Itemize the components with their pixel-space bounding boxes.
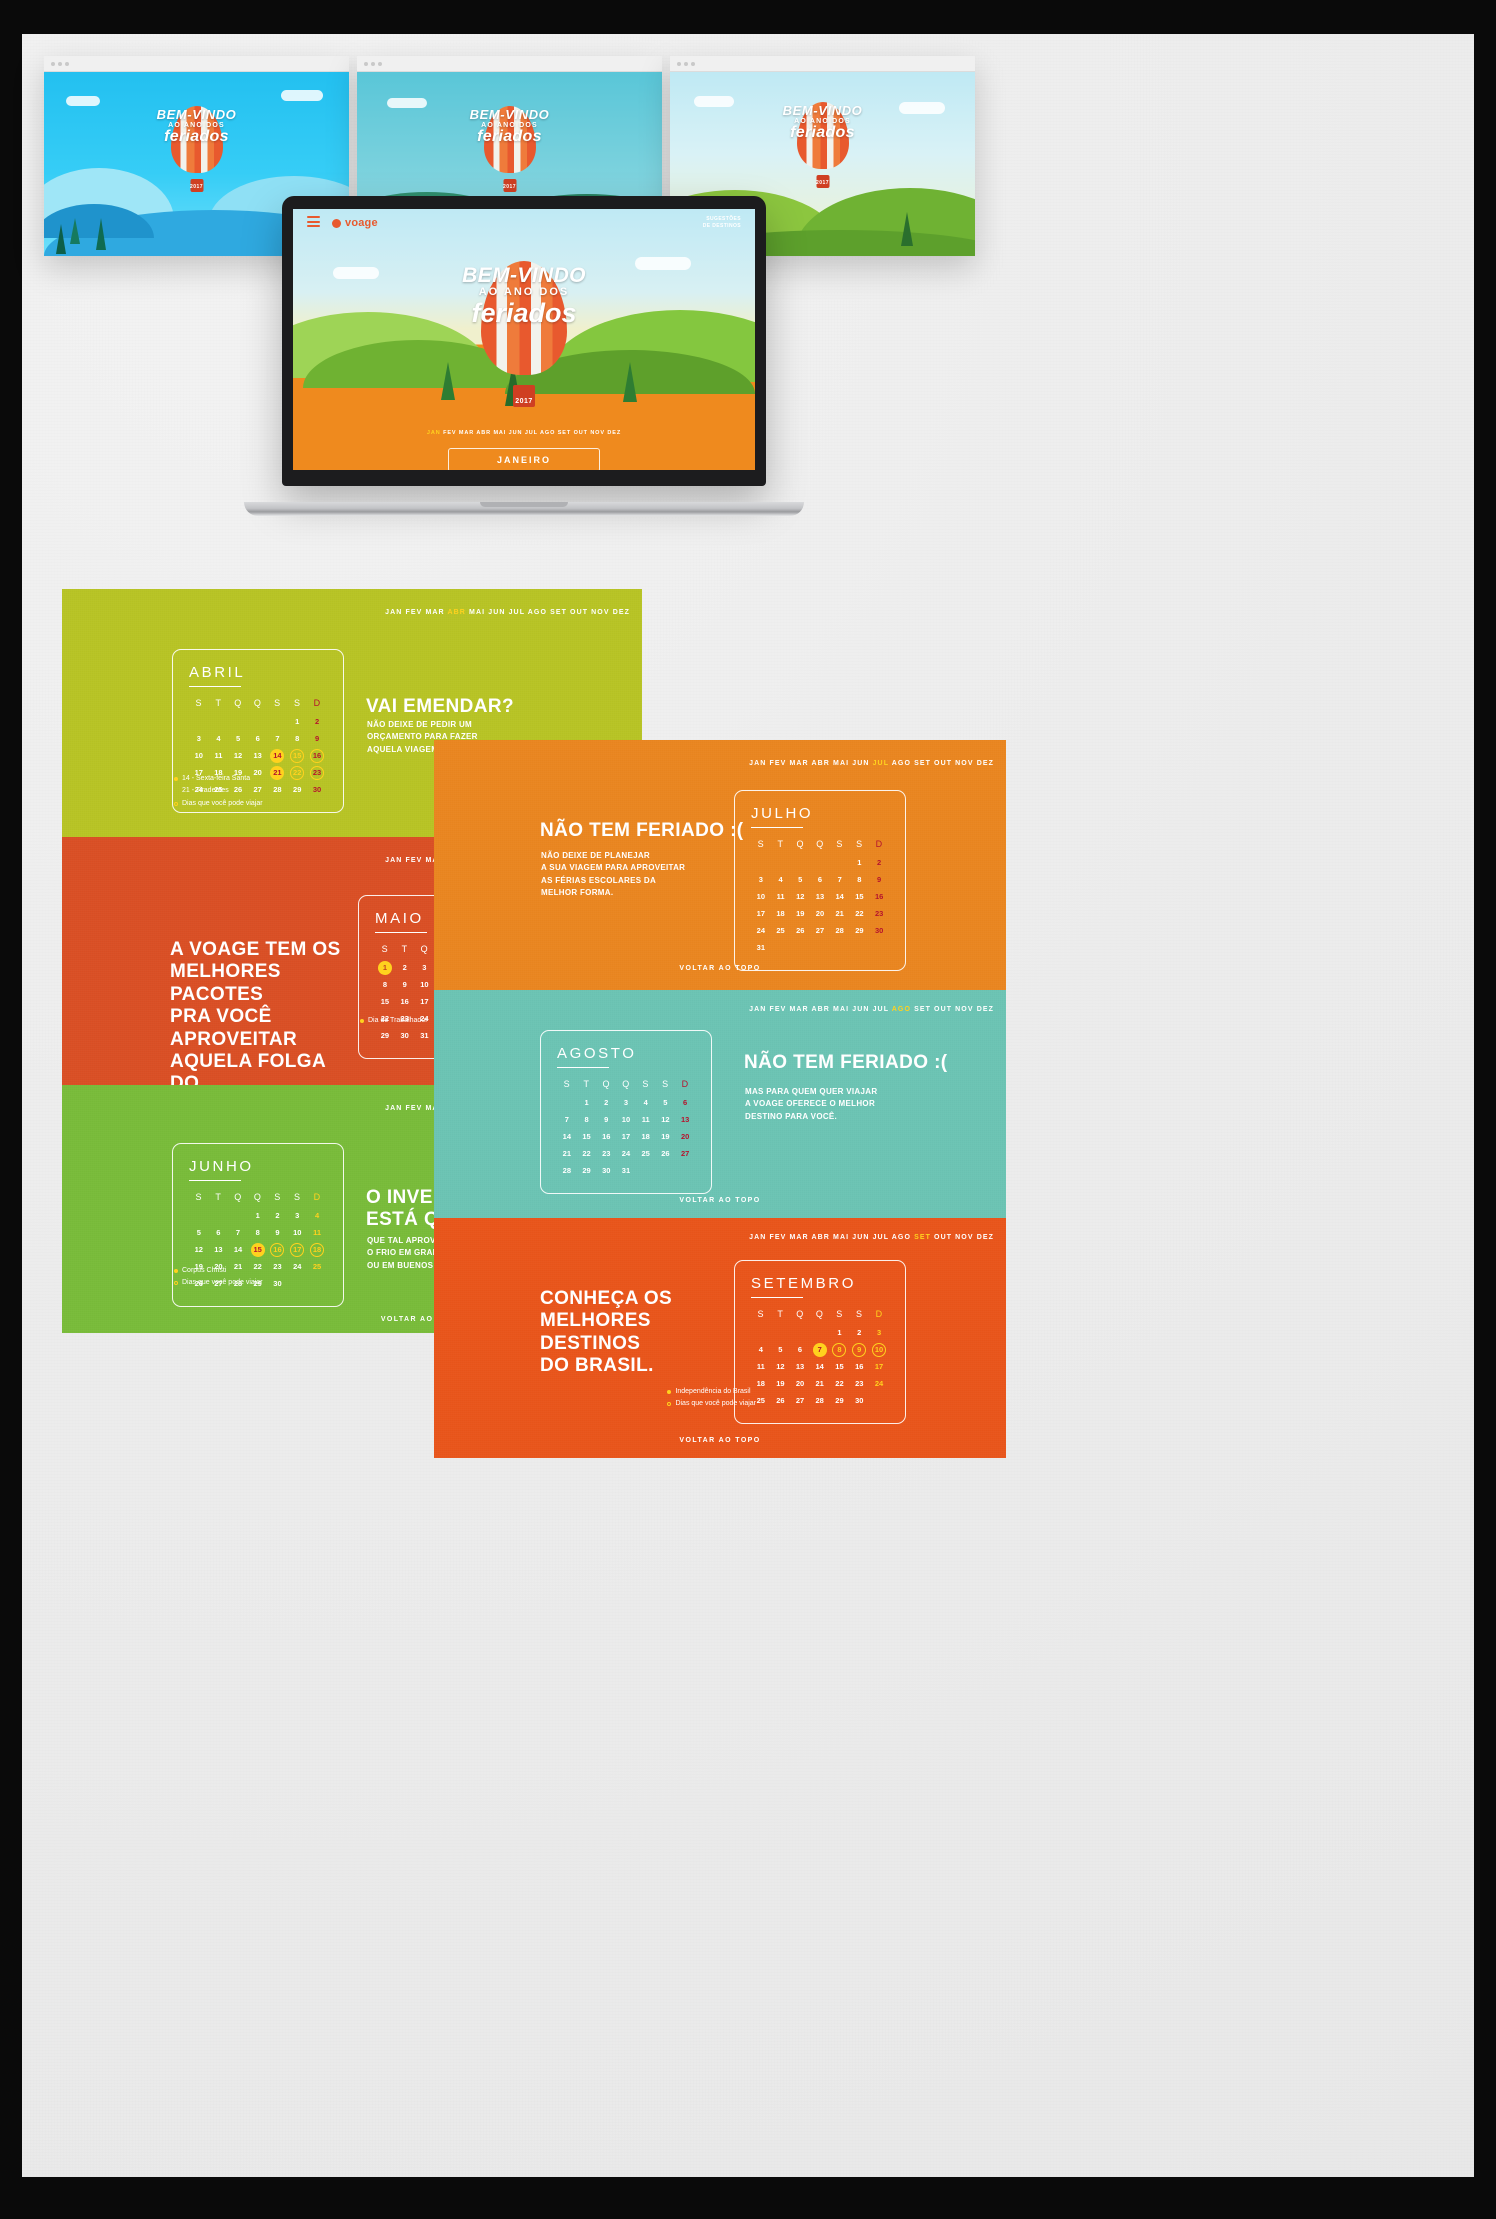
calendar-day[interactable]: 9 [307, 730, 327, 747]
month-link-nov[interactable]: NOV [955, 760, 973, 767]
calendar-day[interactable]: 24 [287, 1258, 307, 1275]
month-link-jun[interactable]: JUN [488, 609, 505, 616]
calendar-day[interactable]: 8 [375, 976, 395, 993]
calendar-day[interactable] [751, 1324, 771, 1341]
weekday-header: D [675, 1077, 695, 1094]
calendar-day[interactable] [268, 713, 288, 730]
calendar-day[interactable] [771, 854, 791, 871]
calendar-day[interactable]: 25 [307, 1258, 327, 1275]
calendar-day[interactable] [790, 939, 810, 956]
month-link-abr[interactable]: ABR [448, 609, 466, 616]
calendar-day[interactable]: 9 [869, 871, 889, 888]
calendar-day[interactable]: 28 [557, 1162, 577, 1179]
calendar-day[interactable]: 10 [189, 747, 209, 764]
calendar-day[interactable] [189, 713, 209, 730]
calendar-day[interactable]: 17 [751, 905, 771, 922]
calendar-day[interactable]: 28 [810, 1392, 830, 1409]
weekday-header: Q [415, 942, 435, 959]
calendar-day[interactable]: 17 [869, 1358, 889, 1375]
month-link-jan[interactable]: JAN [385, 1105, 402, 1112]
calendar-day[interactable]: 22 [830, 1375, 850, 1392]
calendar-day[interactable]: 12 [189, 1241, 209, 1258]
legend-label: 21 - Tiradentes [182, 785, 229, 797]
calendar-day[interactable]: 8 [577, 1111, 597, 1128]
month-link-mai[interactable]: MAI [833, 1234, 849, 1241]
calendar-day[interactable]: 4 [307, 1207, 327, 1224]
calendar-day[interactable]: 24 [616, 1145, 636, 1162]
calendar-day[interactable] [287, 1275, 307, 1292]
month-link-fev[interactable]: FEV [769, 1006, 786, 1013]
month-link-jan[interactable]: JAN [427, 430, 441, 436]
calendar-day[interactable]: 16 [869, 888, 889, 905]
calendar-day[interactable]: 25 [636, 1145, 656, 1162]
window-dot [51, 62, 55, 66]
calendar-day[interactable]: 8 [287, 730, 307, 747]
nav-suggestions[interactable]: SUGESTÕES DE DESTINOS [703, 216, 741, 231]
calendar-day[interactable] [869, 939, 889, 956]
month-link-dez[interactable]: DEZ [607, 430, 621, 436]
calendar-day[interactable]: 9 [395, 976, 415, 993]
calendar-day[interactable] [189, 1207, 209, 1224]
calendar-day[interactable]: 10 [616, 1111, 636, 1128]
calendar-day[interactable]: 25 [771, 922, 791, 939]
calendar-day[interactable]: 20 [790, 1375, 810, 1392]
month-link-fev[interactable]: FEV [769, 1234, 786, 1241]
calendar-day[interactable]: 20 [810, 905, 830, 922]
calendar-day[interactable] [209, 1207, 229, 1224]
calendar-day[interactable] [248, 713, 268, 730]
month-strip-hero[interactable]: JAN FEV MAR ABR MAI JUN JUL AGO SET OUT … [293, 430, 755, 436]
calendar-day[interactable]: 12 [228, 747, 248, 764]
month-link-mai[interactable]: MAI [469, 609, 485, 616]
calendar-day[interactable]: 28 [268, 781, 288, 798]
tree-icon [901, 212, 913, 246]
month-link-ago[interactable]: AGO [892, 760, 911, 767]
calendar-day[interactable]: 16 [268, 1241, 288, 1258]
calendar-day[interactable]: 29 [577, 1162, 597, 1179]
calendar-day[interactable] [557, 1094, 577, 1111]
calendar-day[interactable]: 23 [849, 1375, 869, 1392]
calendar-day[interactable]: 20 [675, 1128, 695, 1145]
calendar-day[interactable]: 3 [287, 1207, 307, 1224]
calendar-day[interactable]: 18 [307, 1241, 327, 1258]
calendar-day[interactable]: 21 [268, 764, 288, 781]
calendar-day[interactable]: 30 [307, 781, 327, 798]
month-link-jul[interactable]: JUL [873, 760, 889, 767]
calendar-day[interactable]: 13 [810, 888, 830, 905]
calendar-day[interactable]: 15 [830, 1358, 850, 1375]
panel-grain [434, 990, 1006, 1218]
frame-left [0, 0, 22, 2219]
calendar-day[interactable]: 8 [830, 1341, 850, 1358]
section-setembro: JAN FEV MAR ABR MAI JUN JUL AGO SET OUT … [434, 1218, 1006, 1458]
calendar-day[interactable]: 4 [209, 730, 229, 747]
calendar-day[interactable]: 8 [850, 871, 870, 888]
month-link-out[interactable]: OUT [570, 609, 588, 616]
travel-day[interactable]: 23 [310, 766, 324, 780]
travel-day[interactable]: 16 [310, 749, 324, 763]
month-link-fev[interactable]: FEV [405, 609, 422, 616]
calendar-day[interactable]: 27 [810, 922, 830, 939]
calendar-day[interactable]: 16 [596, 1128, 616, 1145]
calendar-day[interactable]: 30 [869, 922, 889, 939]
calendar-day[interactable]: 27 [675, 1145, 695, 1162]
calendar-day[interactable] [869, 1392, 889, 1409]
month-link-out[interactable]: OUT [934, 1006, 952, 1013]
calendar-day[interactable]: 10 [287, 1224, 307, 1241]
calendar-day[interactable]: 31 [415, 1027, 435, 1044]
calendar-day[interactable]: 13 [248, 747, 268, 764]
frame-top [0, 0, 1496, 34]
calendar-day[interactable]: 14 [268, 747, 288, 764]
calendar-day[interactable] [307, 1275, 327, 1292]
month-link-set[interactable]: SET [914, 760, 931, 767]
travel-day[interactable]: 15 [290, 749, 304, 763]
calendar-day[interactable] [751, 854, 771, 871]
calendar-day[interactable]: 19 [656, 1128, 676, 1145]
month-link-ago[interactable]: AGO [540, 430, 555, 436]
month-link-ago[interactable]: AGO [892, 1234, 911, 1241]
month-link-jul[interactable]: JUL [509, 609, 525, 616]
laptop-base [244, 502, 804, 516]
calendar-day[interactable]: 24 [869, 1375, 889, 1392]
calendar-day[interactable] [771, 939, 791, 956]
calendar-day[interactable]: 30 [849, 1392, 869, 1409]
calendar-week: 78910111213 [557, 1111, 695, 1128]
month-link-jan[interactable]: JAN [749, 760, 766, 767]
month-link-jul[interactable]: JUL [525, 430, 538, 436]
calendar-day[interactable]: 7 [228, 1224, 248, 1241]
weekday-header: Q [790, 837, 810, 854]
calendar-day[interactable]: 30 [596, 1162, 616, 1179]
month-link-mar[interactable]: MAR [425, 609, 444, 616]
month-link-jul[interactable]: JUL [873, 1006, 889, 1013]
calendar-day[interactable]: 11 [209, 747, 229, 764]
month-link-abr[interactable]: ABR [812, 760, 830, 767]
month-link-set[interactable]: SET [550, 609, 567, 616]
calendar-day[interactable]: 14 [228, 1241, 248, 1258]
month-link-ago[interactable]: AGO [528, 609, 547, 616]
calendar-day[interactable]: 10 [869, 1341, 889, 1358]
weekday-header: T [209, 1190, 229, 1207]
month-link-out[interactable]: OUT [934, 760, 952, 767]
back-to-top-agosto[interactable]: VOLTAR AO TOPO [679, 1197, 760, 1204]
calendar-day[interactable]: 29 [375, 1027, 395, 1044]
calendar-day[interactable]: 19 [771, 1375, 791, 1392]
month-link-jan[interactable]: JAN [749, 1234, 766, 1241]
calendar-day[interactable] [810, 939, 830, 956]
calendar-day[interactable]: 2 [307, 713, 327, 730]
calendar-day[interactable]: 2 [849, 1324, 869, 1341]
calendar-day[interactable]: 11 [771, 888, 791, 905]
back-to-top-setembro[interactable]: VOLTAR AO TOPO [679, 1437, 760, 1444]
month-link-mai[interactable]: MAI [833, 1006, 849, 1013]
month-link-jun[interactable]: JUN [852, 760, 869, 767]
month-link-jan[interactable]: JAN [749, 1006, 766, 1013]
holiday-day[interactable]: 15 [251, 1243, 265, 1257]
month-link-abr[interactable]: ABR [812, 1006, 830, 1013]
calendar-day[interactable]: 4 [636, 1094, 656, 1111]
calendar-day[interactable]: 29 [830, 1392, 850, 1409]
calendar-day[interactable]: 14 [830, 888, 850, 905]
month-nav-julho[interactable]: JAN FEV MAR ABR MAI JUN JUL AGO SET OUT … [749, 760, 994, 767]
calendar-day[interactable]: 6 [248, 730, 268, 747]
calendar-day[interactable]: 2 [869, 854, 889, 871]
calendar-day[interactable]: 1 [248, 1207, 268, 1224]
month-link-jul[interactable]: JUL [873, 1234, 889, 1241]
month-link-mai[interactable]: MAI [493, 430, 506, 436]
month-link-jun[interactable]: JUN [852, 1006, 869, 1013]
month-nav-setembro[interactable]: JAN FEV MAR ABR MAI JUN JUL AGO SET OUT … [749, 1234, 994, 1241]
calendar-day[interactable]: 11 [751, 1358, 771, 1375]
calendar-day[interactable]: 15 [375, 993, 395, 1010]
calendar-day[interactable] [675, 1162, 695, 1179]
month-link-mar[interactable]: MAR [459, 430, 474, 436]
month-link-mar[interactable]: MAR [789, 1234, 808, 1241]
calendar-day[interactable]: 11 [636, 1111, 656, 1128]
month-link-fev[interactable]: FEV [443, 430, 456, 436]
calendar-day[interactable] [830, 939, 850, 956]
calendar-day[interactable]: 5 [790, 871, 810, 888]
calendar-day[interactable]: 30 [395, 1027, 415, 1044]
calendar-day[interactable]: 8 [248, 1224, 268, 1241]
calendar-day[interactable] [830, 854, 850, 871]
legend-item: Independência do Brasil [667, 1386, 756, 1398]
month-button-janeiro[interactable]: JANEIRO [448, 448, 600, 470]
calendar-day[interactable]: 17 [415, 993, 435, 1010]
calendar-day[interactable]: 3 [751, 871, 771, 888]
calendar-day[interactable]: 5 [189, 1224, 209, 1241]
calendar-day[interactable]: 23 [307, 764, 327, 781]
calendar-day[interactable]: 17 [287, 1241, 307, 1258]
calendar-day[interactable]: 22 [850, 905, 870, 922]
laptop-screen[interactable]: voage SUGESTÕES DE DESTINOS 2017 BEM-VIN… [293, 209, 755, 470]
month-link-fev[interactable]: FEV [405, 857, 422, 864]
calendar-day[interactable] [228, 713, 248, 730]
calendar-day[interactable]: 1 [577, 1094, 597, 1111]
calendar-day[interactable]: 29 [287, 781, 307, 798]
month-link-abr[interactable]: ABR [476, 430, 491, 436]
laptop-mockup: voage SUGESTÕES DE DESTINOS 2017 BEM-VIN… [244, 196, 804, 516]
calendar-day[interactable]: 3 [189, 730, 209, 747]
calendar-day[interactable]: 5 [656, 1094, 676, 1111]
calendar-day[interactable]: 2 [596, 1094, 616, 1111]
month-link-ago[interactable]: AGO [892, 1006, 911, 1013]
calendar-day[interactable] [656, 1162, 676, 1179]
calendar-day[interactable]: 11 [307, 1224, 327, 1241]
calendar-day[interactable] [810, 854, 830, 871]
month-link-fev[interactable]: FEV [769, 760, 786, 767]
calendar-day[interactable]: 23 [869, 905, 889, 922]
month-link-mar[interactable]: MAR [789, 760, 808, 767]
calendar-day[interactable]: 4 [771, 871, 791, 888]
month-nav-abril[interactable]: JAN FEV MAR ABR MAI JUN JUL AGO SET OUT … [385, 609, 630, 616]
calendar-day[interactable]: 22 [287, 764, 307, 781]
cloud-icon [635, 257, 691, 270]
month-link-mar[interactable]: MAR [789, 1006, 808, 1013]
window-dot [58, 62, 62, 66]
calendar-week: 45678910 [751, 1341, 889, 1358]
month-link-jan[interactable]: JAN [385, 857, 402, 864]
calendar-day[interactable]: 18 [636, 1128, 656, 1145]
calendar-day[interactable] [771, 1324, 791, 1341]
month-link-jun[interactable]: JUN [852, 1234, 869, 1241]
month-link-nov[interactable]: NOV [590, 430, 605, 436]
calendar-day[interactable]: 15 [248, 1241, 268, 1258]
calendar-day[interactable]: 7 [810, 1341, 830, 1358]
calendar-day[interactable]: 18 [771, 905, 791, 922]
calendar-day[interactable]: 3 [415, 959, 435, 976]
calendar-day[interactable]: 26 [790, 922, 810, 939]
calendar-day[interactable]: 7 [268, 730, 288, 747]
brand-logo[interactable]: voage [332, 217, 378, 229]
holiday-day[interactable]: 7 [813, 1343, 827, 1357]
hero-lettering: BEM-VINDO AO ANO DOS feriados [470, 108, 550, 146]
calendar-day[interactable] [790, 854, 810, 871]
calendar-day[interactable]: 9 [268, 1224, 288, 1241]
calendar-day[interactable]: 16 [849, 1358, 869, 1375]
calendar-day[interactable]: 15 [287, 747, 307, 764]
month-link-dez[interactable]: DEZ [977, 1234, 994, 1241]
calendar-day[interactable]: 30 [268, 1275, 288, 1292]
calendar-day[interactable]: 5 [771, 1341, 791, 1358]
month-link-jun[interactable]: JUN [509, 430, 523, 436]
month-link-mai[interactable]: MAI [833, 760, 849, 767]
legend-item: 21 - Tiradentes [174, 785, 263, 797]
calendar-day[interactable]: 12 [771, 1358, 791, 1375]
month-link-out[interactable]: OUT [934, 1234, 952, 1241]
legend-ring-icon [174, 1281, 178, 1285]
month-link-dez[interactable]: DEZ [977, 760, 994, 767]
month-link-set[interactable]: SET [558, 430, 571, 436]
calendar-day[interactable]: 1 [287, 713, 307, 730]
calendar-rule [751, 827, 803, 828]
brand-name: voage [345, 217, 378, 229]
balloon-year: 2017 [190, 184, 203, 190]
back-to-top-julho[interactable]: VOLTAR AO TOPO [679, 965, 760, 972]
travel-day[interactable]: 8 [832, 1343, 846, 1357]
month-link-out[interactable]: OUT [574, 430, 588, 436]
calendar-day[interactable]: 15 [850, 888, 870, 905]
calendar-day[interactable]: 31 [751, 939, 771, 956]
month-link-fev[interactable]: FEV [405, 1105, 422, 1112]
balloon-logo-icon [332, 219, 341, 228]
calendar-day[interactable]: 19 [790, 905, 810, 922]
month-link-nov[interactable]: NOV [591, 609, 609, 616]
legend-label: Independência do Brasil [675, 1386, 750, 1398]
calendar-day[interactable]: 17 [616, 1128, 636, 1145]
calendar-day[interactable]: 29 [850, 922, 870, 939]
calendar-day[interactable]: 6 [790, 1341, 810, 1358]
month-link-set[interactable]: SET [914, 1006, 931, 1013]
calendar-day[interactable]: 14 [557, 1128, 577, 1145]
calendar-day[interactable]: 28 [830, 922, 850, 939]
travel-day[interactable]: 22 [290, 766, 304, 780]
calendar-day[interactable]: 4 [751, 1341, 771, 1358]
calendar-day[interactable] [636, 1162, 656, 1179]
subtext-agosto: MAS PARA QUEM QUER VIAJARA VOAGE OFERECE… [745, 1086, 877, 1123]
travel-day[interactable]: 9 [852, 1343, 866, 1357]
calendar-day[interactable]: 21 [557, 1145, 577, 1162]
month-link-jan[interactable]: JAN [385, 609, 402, 616]
calendar-day[interactable]: 24 [751, 922, 771, 939]
calendar-day[interactable]: 10 [415, 976, 435, 993]
calendar-day[interactable]: 3 [869, 1324, 889, 1341]
travel-day[interactable]: 10 [872, 1343, 886, 1357]
calendar-day[interactable]: 13 [209, 1241, 229, 1258]
calendar-week: 10111213141516 [189, 747, 327, 764]
calendar-day[interactable]: 21 [830, 905, 850, 922]
travel-day[interactable]: 16 [270, 1243, 284, 1257]
calendar-day[interactable]: 2 [268, 1207, 288, 1224]
month-link-nov[interactable]: NOV [955, 1234, 973, 1241]
calendar-day[interactable]: 6 [810, 871, 830, 888]
calendar-day[interactable] [810, 1324, 830, 1341]
calendar-day[interactable]: 3 [616, 1094, 636, 1111]
calendar-day[interactable]: 21 [810, 1375, 830, 1392]
holiday-day[interactable]: 1 [378, 961, 392, 975]
month-link-abr[interactable]: ABR [812, 1234, 830, 1241]
headline-line: DESTINOS [540, 1333, 672, 1355]
calendar-day[interactable]: 2 [395, 959, 415, 976]
calendar-day[interactable]: 31 [616, 1162, 636, 1179]
month-link-dez[interactable]: DEZ [613, 609, 630, 616]
calendar-day[interactable]: 5 [228, 730, 248, 747]
menu-icon[interactable] [307, 216, 320, 230]
calendar-day[interactable]: 1 [850, 854, 870, 871]
travel-day[interactable]: 18 [310, 1243, 324, 1257]
month-link-dez[interactable]: DEZ [977, 1006, 994, 1013]
calendar-day[interactable]: 10 [751, 888, 771, 905]
calendar-day[interactable]: 9 [849, 1341, 869, 1358]
calendar-day[interactable] [228, 1207, 248, 1224]
calendar-day[interactable]: 6 [675, 1094, 695, 1111]
calendar-day[interactable]: 13 [675, 1111, 695, 1128]
calendar-day[interactable]: 26 [656, 1145, 676, 1162]
calendar-day[interactable]: 1 [375, 959, 395, 976]
month-nav-agosto[interactable]: JAN FEV MAR ABR MAI JUN JUL AGO SET OUT … [749, 1006, 994, 1013]
travel-day[interactable]: 17 [290, 1243, 304, 1257]
calendar-day[interactable]: 26 [771, 1392, 791, 1409]
calendar-day[interactable]: 16 [395, 993, 415, 1010]
calendar-setembro: SETEMBRO STQQSSD123456789101112131415161… [734, 1260, 906, 1424]
calendar-day[interactable]: 14 [810, 1358, 830, 1375]
calendar-day[interactable]: 6 [209, 1224, 229, 1241]
calendar-day[interactable] [790, 1324, 810, 1341]
month-link-nov[interactable]: NOV [955, 1006, 973, 1013]
calendar-day[interactable]: 22 [577, 1145, 597, 1162]
calendar-day[interactable] [209, 713, 229, 730]
month-link-set[interactable]: SET [914, 1234, 931, 1241]
calendar-day[interactable]: 23 [268, 1258, 288, 1275]
calendar-day[interactable]: 7 [557, 1111, 577, 1128]
calendar-day[interactable]: 12 [656, 1111, 676, 1128]
calendar-day[interactable]: 15 [577, 1128, 597, 1145]
browser-chrome-1 [44, 56, 349, 72]
calendar-day[interactable] [850, 939, 870, 956]
calendar-day[interactable]: 27 [790, 1392, 810, 1409]
calendar-day[interactable]: 23 [596, 1145, 616, 1162]
calendar-day[interactable]: 16 [307, 747, 327, 764]
calendar-day[interactable]: 9 [596, 1111, 616, 1128]
calendar-day[interactable]: 1 [830, 1324, 850, 1341]
calendar-day[interactable]: 12 [790, 888, 810, 905]
calendar-day[interactable]: 7 [830, 871, 850, 888]
holiday-day[interactable]: 21 [270, 766, 284, 780]
holiday-day[interactable]: 14 [270, 749, 284, 763]
calendar-day[interactable]: 13 [790, 1358, 810, 1375]
legend-label: Dia do Trabalhador [368, 1015, 428, 1027]
